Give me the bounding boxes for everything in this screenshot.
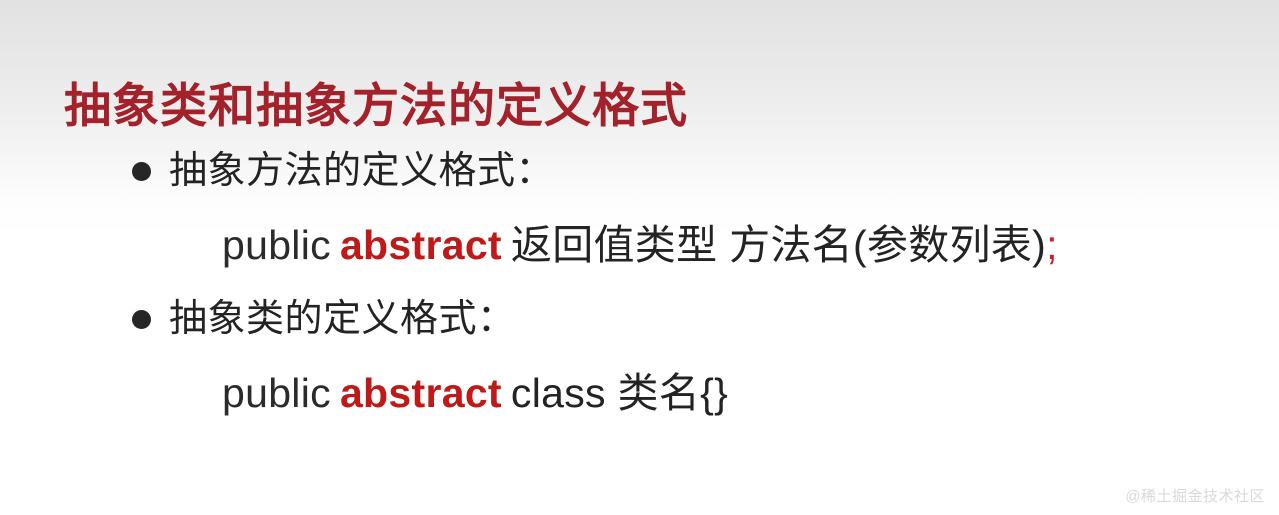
list-item: 抽象方法的定义格式： (0, 140, 1279, 202)
code-modifier-public: public (222, 367, 331, 419)
bullet-block: 抽象类的定义格式： public abstract class 类名{} (0, 288, 1279, 436)
code-modifier-public: public (222, 219, 331, 271)
code-signature: 返回值类型 方法名(参数列表) (511, 219, 1046, 271)
bullet-circle-icon (132, 162, 151, 181)
page-title: 抽象类和抽象方法的定义格式 (64, 77, 688, 135)
code-signature: class 类名{} (511, 367, 728, 419)
bullet-label: 抽象类的定义格式： (169, 296, 516, 342)
watermark: @稀土掘金技术社区 (1125, 487, 1265, 507)
code-keyword-abstract: abstract (331, 219, 511, 271)
list-item: 抽象类的定义格式： (0, 288, 1279, 350)
slide-canvas: 抽象类和抽象方法的定义格式 抽象方法的定义格式： public abstract… (0, 0, 1279, 515)
code-semicolon: ; (1046, 219, 1058, 271)
code-keyword-abstract: abstract (331, 367, 511, 419)
code-line: public abstract class 类名{} (0, 350, 1279, 436)
bullet-block: 抽象方法的定义格式： public abstract 返回值类型 方法名(参数列… (0, 140, 1279, 288)
slide-body: 抽象方法的定义格式： public abstract 返回值类型 方法名(参数列… (0, 140, 1279, 436)
bullet-label: 抽象方法的定义格式： (169, 148, 554, 194)
code-line: public abstract 返回值类型 方法名(参数列表) ; (0, 202, 1279, 288)
bullet-circle-icon (132, 310, 151, 329)
